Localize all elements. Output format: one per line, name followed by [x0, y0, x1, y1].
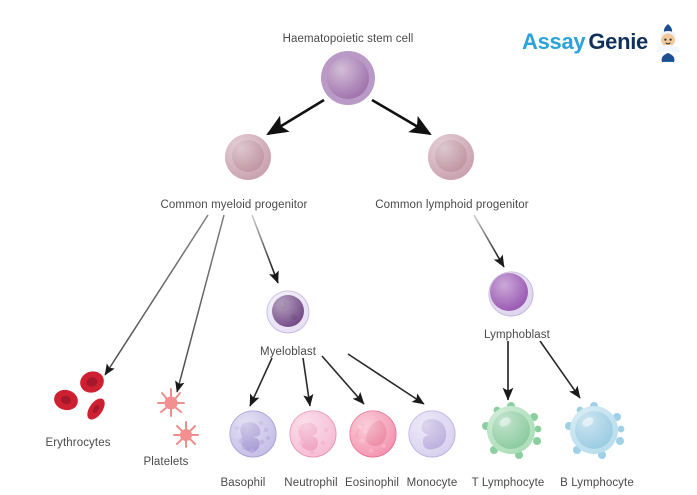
label-erythrocytes: Erythrocytes — [45, 437, 110, 450]
label-platelets: Platelets — [143, 456, 188, 469]
label-myeloblast: Myeloblast — [260, 346, 316, 359]
label-lymphoblast: Lymphoblast — [484, 329, 550, 342]
label-haematopoietic-stem-cell: Haematopoietic stem cell — [283, 33, 414, 46]
label-b-lymphocyte: B Lymphocyte — [560, 477, 634, 490]
label-monocyte: Monocyte — [407, 477, 458, 490]
label-common-myeloid-progenitor: Common myeloid progenitor — [161, 199, 308, 212]
label-basophil: Basophil — [221, 477, 266, 490]
label-common-lymphoid-progenitor: Common lymphoid progenitor — [375, 199, 528, 212]
label-eosinophil: Eosinophil — [345, 477, 399, 490]
label-t-lymphocyte: T Lymphocyte — [472, 477, 545, 490]
cell-labels: Haematopoietic stem cell Common myeloid … — [0, 0, 697, 495]
label-neutrophil: Neutrophil — [284, 477, 337, 490]
haematopoiesis-diagram: Haematopoietic stem cell Common myeloid … — [0, 0, 697, 495]
